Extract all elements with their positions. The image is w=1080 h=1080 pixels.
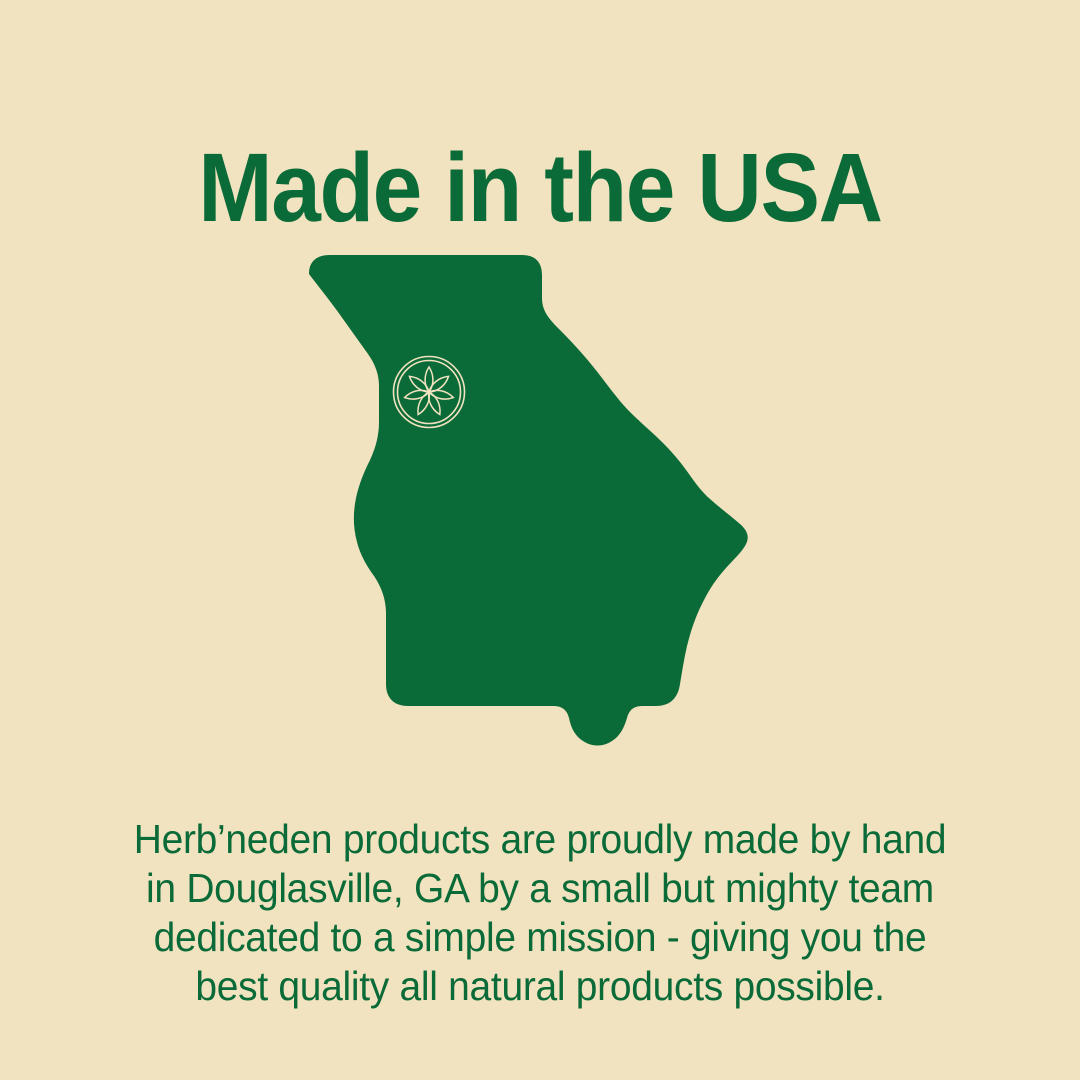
page-title: Made in the USA [43, 139, 1037, 236]
description-line: dedicated to a simple mission - giving y… [27, 913, 1053, 962]
georgia-map-illustration [0, 236, 1080, 766]
georgia-state-map-svg [290, 236, 790, 756]
description-line: in Douglasville, GA by a small but might… [27, 864, 1053, 913]
description-line: best quality all natural products possib… [27, 962, 1053, 1011]
description-paragraph: Herb’neden products are proudly made by … [27, 815, 1053, 1011]
made-in-usa-poster: Made in the USA [0, 0, 1080, 1080]
georgia-state-shape [309, 255, 748, 746]
description-line: Herb’neden products are proudly made by … [27, 815, 1053, 864]
